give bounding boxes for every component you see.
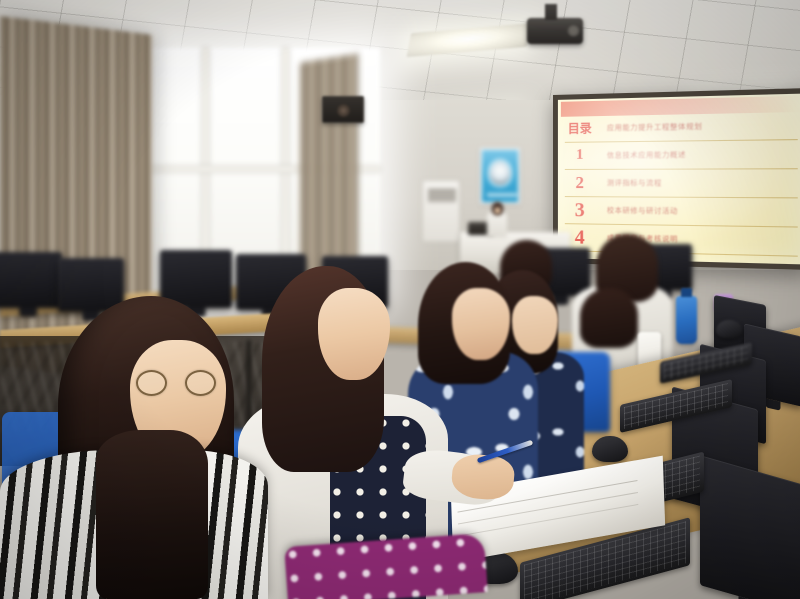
attendee-back-row-near — [580, 288, 638, 348]
mouse[interactable] — [592, 436, 628, 462]
slide-row-text: 应用能力提升工程整体规划 — [595, 120, 798, 134]
poster-text-line — [487, 193, 517, 197]
slide-row-number: 1 — [565, 148, 595, 163]
slide-row-text: 测评指标与流程 — [595, 178, 798, 189]
foreground-woman-hair-front — [96, 430, 208, 599]
slide-row-list: 目录 应用能力提升工程整体规划 1 信息技术应用能力概述 2 测评指标与流程 3… — [565, 111, 798, 260]
monitor — [0, 252, 62, 308]
wall-poster — [480, 148, 520, 204]
air-conditioner — [422, 180, 460, 242]
glasses-icon — [136, 370, 216, 396]
slide-row: 2 测评指标与流程 — [565, 169, 798, 198]
slide-row: 1 信息技术应用能力概述 — [565, 140, 798, 170]
presenter-face — [494, 207, 501, 214]
mouse[interactable] — [716, 320, 742, 338]
glasses-lens-left — [136, 370, 167, 396]
speaker-icon — [322, 96, 364, 123]
slide-row: 目录 应用能力提升工程整体规划 — [565, 111, 798, 143]
projector-icon — [527, 18, 583, 44]
slide-row-number: 3 — [565, 200, 595, 220]
slide-row-text: 校本研修与研讨活动 — [595, 205, 798, 217]
projection-screen: 目录 应用能力提升工程整体规划 1 信息技术应用能力概述 2 测评指标与流程 3… — [553, 88, 800, 270]
slide-row: 3 校本研修与研讨活动 — [565, 197, 798, 227]
blue-water-bottle — [676, 296, 697, 344]
presenter-body — [487, 212, 507, 238]
slide-row-number: 目录 — [565, 122, 595, 135]
classroom-photo: 目录 应用能力提升工程整体规划 1 信息技术应用能力概述 2 测评指标与流程 3… — [0, 0, 800, 599]
glasses-lens-right — [185, 370, 216, 396]
slide-row-number: 2 — [565, 174, 595, 191]
slide-row-text: 信息技术应用能力概述 — [595, 149, 798, 161]
poster-emblem-icon — [490, 161, 510, 184]
